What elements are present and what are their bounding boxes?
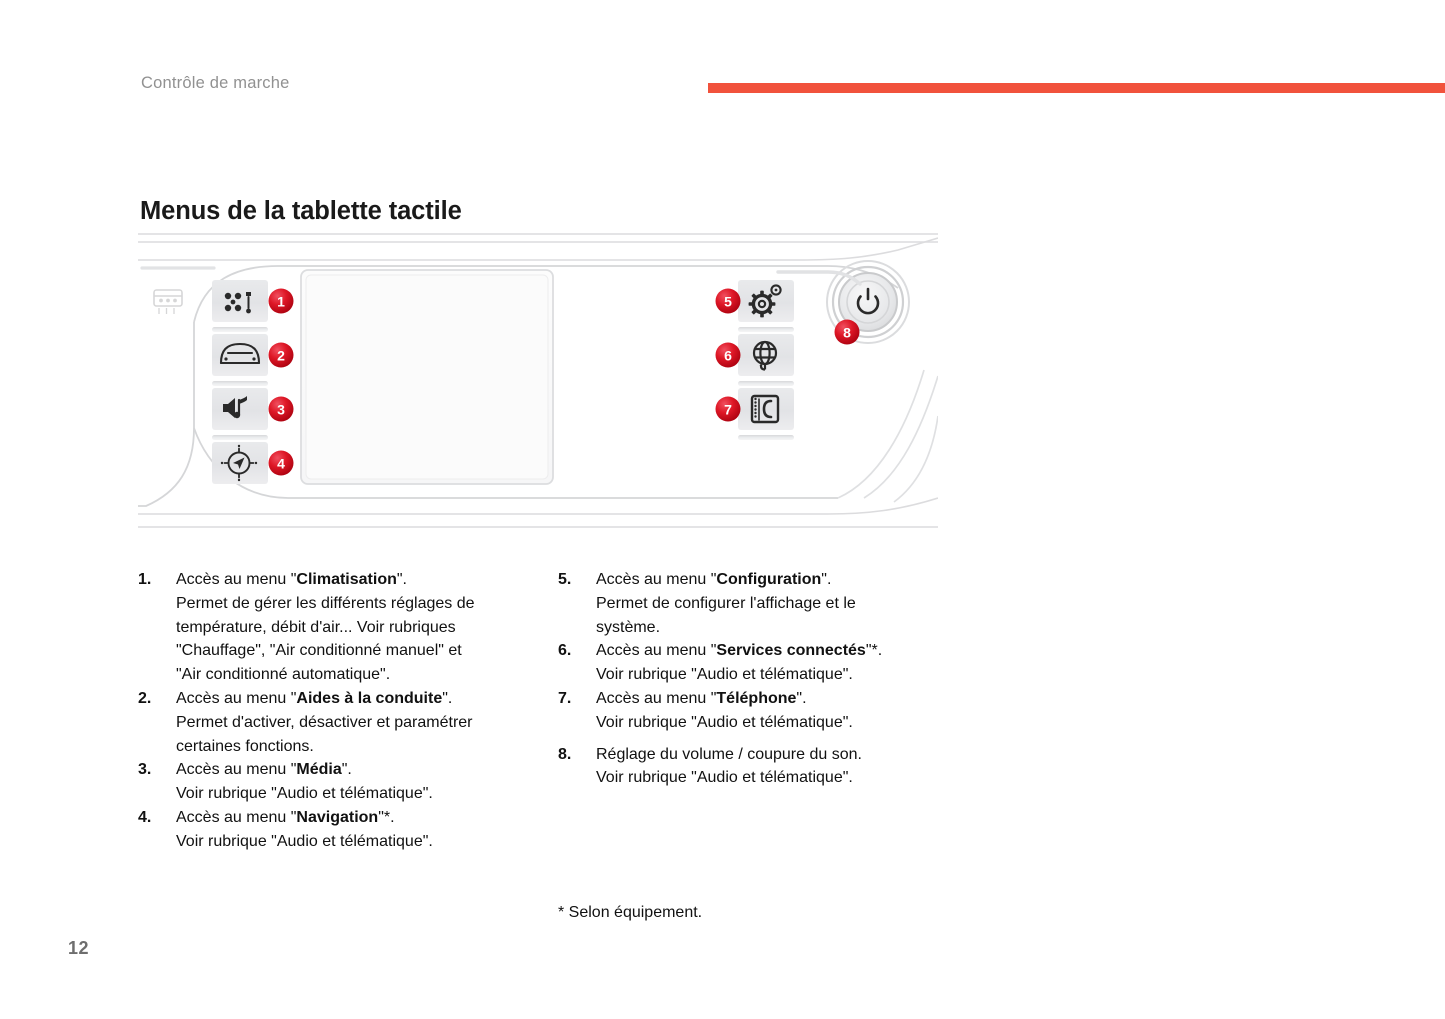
legend-item-number: 8.	[558, 743, 582, 767]
legend-item-text: Accès au menu "Navigation"*.Voir rubriqu…	[176, 806, 538, 854]
page-title: Menus de la tablette tactile	[140, 197, 462, 226]
callout-badge-4: 4	[269, 451, 294, 476]
legend-text-line: Accès au menu "Téléphone".	[596, 687, 958, 711]
legend-menu-name: Média	[296, 761, 341, 778]
button-gap-slot	[738, 381, 794, 386]
legend-text-line: Accès au menu "Navigation"*.	[176, 806, 538, 830]
dashboard-illustration-svg: 1 2 3 4 5 6 7 8	[138, 230, 938, 535]
callout-badge-5: 5	[716, 289, 741, 314]
legend-item-2: 2.Accès au menu "Aides à la conduite".Pe…	[138, 687, 538, 758]
page-header: Contrôle de marche	[0, 74, 1445, 106]
svg-text:1: 1	[277, 294, 285, 310]
legend-item-6: 6.Accès au menu "Services connectés"*.Vo…	[558, 639, 958, 687]
svg-text:6: 6	[724, 348, 732, 364]
callout-badge-2: 2	[269, 343, 294, 368]
page-number: 12	[68, 938, 89, 959]
legend-item-text: Accès au menu "Aides à la conduite".Perm…	[176, 687, 538, 758]
legend-text-line: Voir rubrique "Audio et télématique".	[596, 663, 958, 687]
legend-text-line: système.	[596, 616, 958, 640]
button-gap-slot	[738, 327, 794, 332]
legend-item-4: 4.Accès au menu "Navigation"*.Voir rubri…	[138, 806, 538, 854]
legend-text-line: Permet d'activer, désactiver et paramétr…	[176, 711, 538, 735]
button-configuration[interactable]	[738, 280, 794, 322]
legend-text-line: Accès au menu "Services connectés"*.	[596, 639, 958, 663]
legend-menu-name: Configuration	[716, 571, 821, 588]
legend-item-7: 7.Accès au menu "Téléphone".Voir rubriqu…	[558, 687, 958, 735]
legend-item-text: Accès au menu "Média".Voir rubrique "Aud…	[176, 758, 538, 806]
running-head: Contrôle de marche	[141, 74, 290, 93]
legend-item-number: 6.	[558, 639, 582, 663]
legend-item-8: 8.Réglage du volume / coupure du son.Voi…	[558, 743, 958, 791]
legend-item-text: Accès au menu "Climatisation".Permet de …	[176, 568, 538, 687]
legend-item-number: 1.	[138, 568, 162, 592]
button-gap-slot	[212, 435, 268, 440]
legend-item-text: Accès au menu "Services connectés"*.Voir…	[596, 639, 958, 687]
legend-text-line: Réglage du volume / coupure du son.	[596, 743, 958, 767]
svg-text:2: 2	[277, 348, 285, 364]
button-gap-slot	[212, 327, 268, 332]
legend-item-text: Accès au menu "Téléphone".Voir rubrique …	[596, 687, 958, 735]
button-climatisation[interactable]	[212, 280, 268, 322]
legend-text-line: certaines fonctions.	[176, 735, 538, 759]
legend-text-line: Voir rubrique "Audio et télématique".	[596, 711, 958, 735]
button-navigation[interactable]	[212, 442, 268, 484]
legend-text-line: Voir rubrique "Audio et télématique".	[176, 782, 538, 806]
dashboard-trim-lines-right	[838, 370, 938, 502]
svg-text:3: 3	[277, 402, 285, 418]
button-telephone[interactable]	[738, 388, 794, 430]
legend-menu-name: Navigation	[296, 809, 378, 826]
legend-text-line: Accès au menu "Aides à la conduite".	[176, 687, 538, 711]
svg-text:7: 7	[724, 402, 732, 418]
dashboard-trim-lines-top	[138, 234, 938, 260]
button-gap-slot	[738, 435, 794, 440]
legend-text-line: "Air conditionné automatique".	[176, 663, 538, 687]
legend-text-line: Voir rubrique "Audio et télématique".	[176, 830, 538, 854]
callout-badge-8: 8	[835, 320, 860, 345]
legend-item-number: 3.	[138, 758, 162, 782]
dashboard-trim-lines-bottom	[138, 498, 938, 527]
callout-badge-7: 7	[716, 397, 741, 422]
button-services-connectes[interactable]	[738, 334, 794, 376]
touchscreen-tablet-dashboard-diagram: 1 2 3 4 5 6 7 8	[138, 230, 938, 535]
button-aides-conduite[interactable]	[212, 334, 268, 376]
legend-menu-name: Services connectés	[716, 642, 865, 659]
legend-menu-name: Téléphone	[716, 690, 796, 707]
legend-menu-name: Climatisation	[296, 571, 396, 588]
legend-text-line: Accès au menu "Configuration".	[596, 568, 958, 592]
footnote: * Selon équipement.	[558, 901, 702, 925]
svg-text:8: 8	[843, 325, 851, 341]
legend-item-text: Réglage du volume / coupure du son.Voir …	[596, 743, 958, 791]
legend-text-line: "Chauffage", "Air conditionné manuel" et	[176, 639, 538, 663]
legend-item-number: 5.	[558, 568, 582, 592]
legend-text-line: Permet de configurer l'affichage et le	[596, 592, 958, 616]
legend-menu-name: Aides à la conduite	[296, 690, 442, 707]
legend-item-1: 1.Accès au menu "Climatisation".Permet d…	[138, 568, 538, 687]
callout-badge-3: 3	[269, 397, 294, 422]
legend-text-line: Accès au menu "Climatisation".	[176, 568, 538, 592]
header-accent-rule	[708, 83, 1445, 93]
legend-column-right: 5.Accès au menu "Configuration".Permet d…	[558, 568, 958, 790]
legend-column-left: 1.Accès au menu "Climatisation".Permet d…	[138, 568, 538, 854]
demist-grille-icon	[154, 290, 182, 314]
svg-text:4: 4	[277, 456, 285, 472]
button-media[interactable]	[212, 388, 268, 430]
legend-text-line: Permet de gérer les différents réglages …	[176, 592, 538, 616]
legend-item-number: 7.	[558, 687, 582, 711]
button-gap-slot	[212, 381, 268, 386]
legend-item-number: 4.	[138, 806, 162, 830]
legend-item-text: Accès au menu "Configuration".Permet de …	[596, 568, 958, 639]
legend-item-5: 5.Accès au menu "Configuration".Permet d…	[558, 568, 958, 639]
legend-text-line: Voir rubrique "Audio et télématique".	[596, 766, 958, 790]
legend-item-3: 3.Accès au menu "Média".Voir rubrique "A…	[138, 758, 538, 806]
callout-badge-1: 1	[269, 289, 294, 314]
legend-text-line: Accès au menu "Média".	[176, 758, 538, 782]
svg-text:5: 5	[724, 294, 732, 310]
legend-item-number: 2.	[138, 687, 162, 711]
callout-badge-6: 6	[716, 343, 741, 368]
legend-text-line: température, débit d'air... Voir rubriqu…	[176, 616, 538, 640]
touchscreen-display[interactable]	[301, 270, 553, 484]
